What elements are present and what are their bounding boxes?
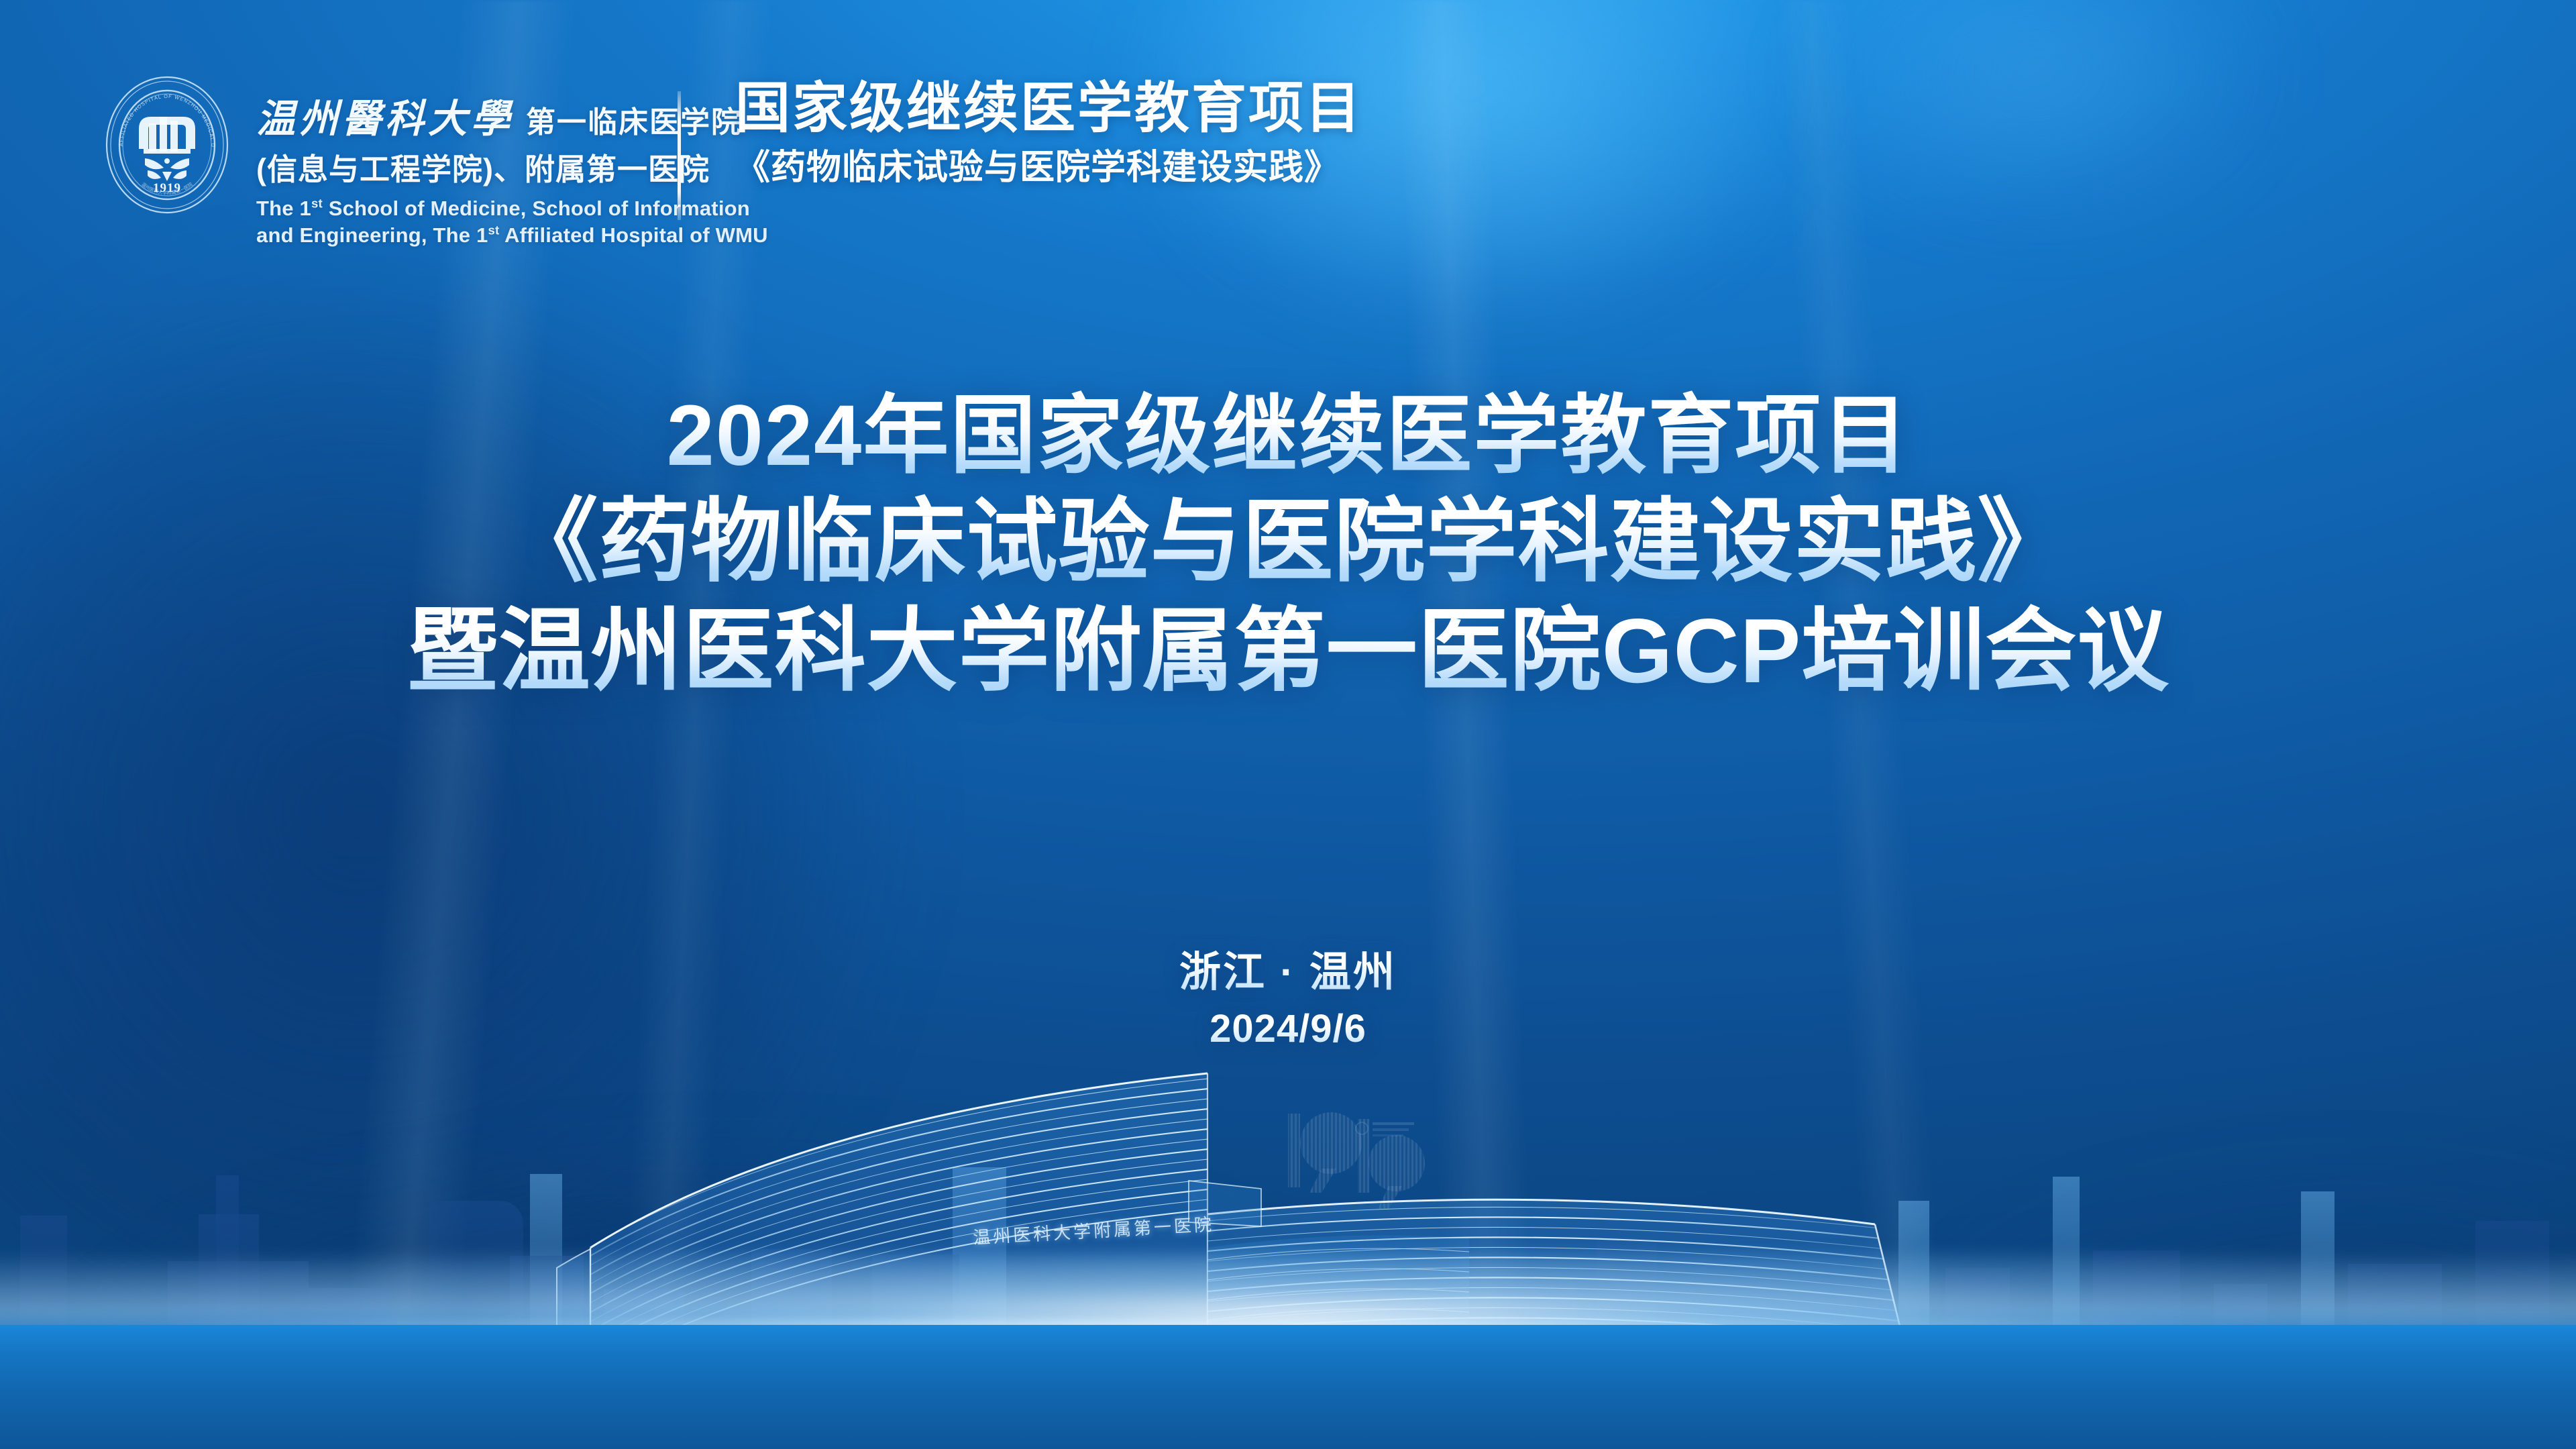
event-meta-block: 浙江 · 温州 2024/9/6 — [0, 938, 2576, 1051]
org-en-l1a: The 1 — [256, 197, 311, 220]
event-location: 浙江 · 温州 — [0, 938, 2576, 998]
program-line2: 《药物临床试验与医院学科建设实践》 — [735, 147, 1362, 189]
foreground-floor — [0, 1325, 2576, 1449]
org-name-english: The 1st School of Medicine, School of In… — [256, 195, 768, 250]
university-crest-logo: THE FIRST AFFILIATED HOSPITAL OF WENZHOU… — [101, 72, 233, 217]
program-name-block: 国家级继续医学教育项目 《药物临床试验与医院学科建设实践》 — [735, 79, 1362, 189]
organization-name-block: 温州醫科大學 第一临床医学院 (信息与工程学院)、附属第一医院 The 1st … — [256, 72, 768, 250]
svg-text:THE FIRST AFFILIATED HOSPITAL: THE FIRST AFFILIATED HOSPITAL OF WENZHOU… — [101, 72, 216, 148]
main-title-block: 2024年国家级继续医学教育项目 《药物临床试验与医院学科建设实践》 暨温州医科… — [0, 388, 2576, 703]
conference-banner: 温州医科大学附属第一医院 THE FIRST AFFI — [0, 0, 2576, 1449]
crest-year: 1919 — [153, 181, 181, 195]
org-name-brush: 温州醫科大學 — [256, 87, 514, 144]
org-en-sup1: st — [311, 197, 323, 211]
banner-header: THE FIRST AFFILIATED HOSPITAL OF WENZHOU… — [0, 0, 2576, 268]
org-en-l2a: and Engineering, The 1 — [256, 223, 488, 247]
main-title-line2: 《药物临床试验与医院学科建设实践》 — [0, 490, 2576, 594]
program-line1: 国家级继续医学教育项目 — [735, 79, 1362, 139]
org-en-l2b: Affiliated Hospital of WMU — [499, 223, 767, 247]
header-divider — [678, 91, 681, 220]
event-date: 2024/9/6 — [0, 1006, 2576, 1051]
org-name-line2: (信息与工程学院)、附属第一医院 — [256, 145, 768, 189]
org-en-sup2: st — [488, 223, 499, 237]
main-title-line3: 暨温州医科大学附属第一医院GCP培训会议 — [0, 600, 2576, 703]
org-name-school: 第一临床医学院 — [526, 98, 742, 141]
org-en-l1b: School of Medicine, School of Informatio… — [323, 197, 750, 220]
main-title-line1: 2024年国家级继续医学教育项目 — [0, 388, 2576, 485]
